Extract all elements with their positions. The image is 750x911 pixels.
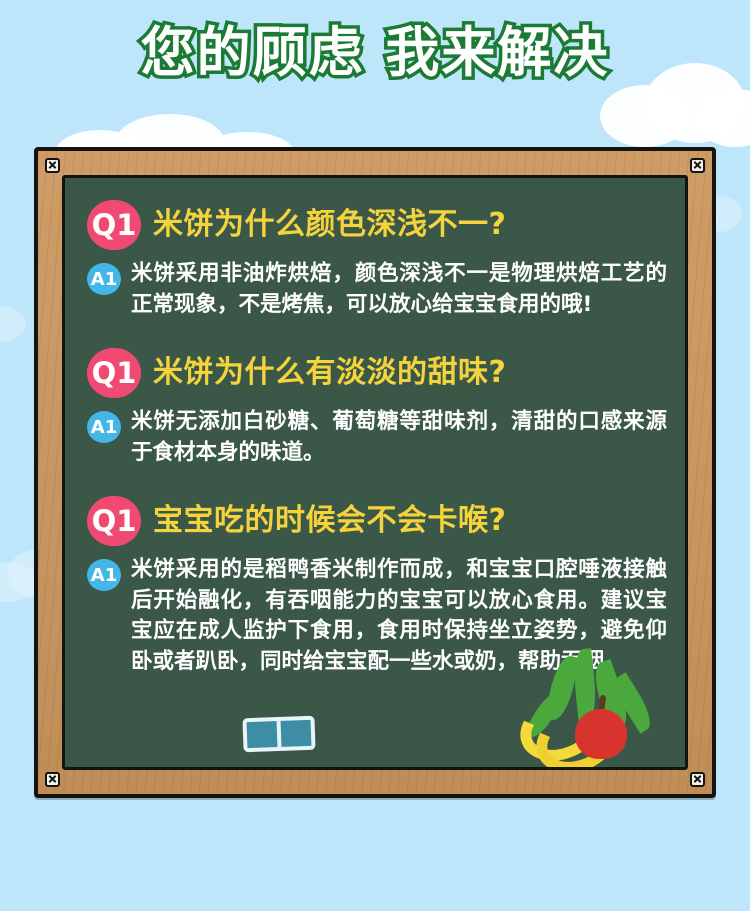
leaf-icon xyxy=(523,688,565,742)
leaf-icon xyxy=(609,672,658,733)
apple-icon xyxy=(575,709,627,759)
answer-badge: A1 xyxy=(87,411,121,443)
faq-item: Q1 米饼为什么有淡淡的甜味? A1 米饼无添加白砂糖、葡萄糖等甜味剂，清甜的口… xyxy=(87,348,667,468)
faq-list: Q1 米饼为什么颜色深浅不一? A1 米饼采用非油炸烘焙，颜色深浅不一是物理烘焙… xyxy=(87,200,667,677)
question-row: Q1 米饼为什么有淡淡的甜味? xyxy=(87,348,667,398)
question-badge: Q1 xyxy=(87,496,141,546)
blackboard-frame: Q1 米饼为什么颜色深浅不一? A1 米饼采用非油炸烘焙，颜色深浅不一是物理烘焙… xyxy=(34,147,716,798)
screw-icon xyxy=(690,772,705,787)
page-title: 您的顾虑 我来解决 xyxy=(141,22,610,84)
question-badge: Q1 xyxy=(87,200,141,250)
faq-item: Q1 宝宝吃的时候会不会卡喉? A1 米饼采用的是稻鸭香米制作而成，和宝宝口腔唾… xyxy=(87,496,667,677)
question-badge: Q1 xyxy=(87,348,141,398)
question-text: 宝宝吃的时候会不会卡喉? xyxy=(153,504,506,539)
banana-icon xyxy=(510,684,611,770)
question-row: Q1 宝宝吃的时候会不会卡喉? xyxy=(87,496,667,546)
answer-text: 米饼无添加白砂糖、葡萄糖等甜味剂，清甜的口感来源于食材本身的味道。 xyxy=(131,407,667,468)
answer-text: 米饼采用非油炸烘焙，颜色深浅不一是物理烘焙工艺的正常现象，不是烤焦，可以放心给宝… xyxy=(131,259,667,320)
banana-icon xyxy=(526,696,627,770)
question-row: Q1 米饼为什么颜色深浅不一? xyxy=(87,200,667,250)
screw-icon xyxy=(690,158,705,173)
promo-faq-page: 您的顾虑 我来解决 Q1 米饼为什么颜色深浅不一? A1 米饼采用非油炸烘焙，颜… xyxy=(0,0,750,911)
title-container: 您的顾虑 我来解决 xyxy=(0,22,750,84)
cloud-puff xyxy=(0,306,26,342)
blackboard-surface: Q1 米饼为什么颜色深浅不一? A1 米饼采用非油炸烘焙，颜色深浅不一是物理烘焙… xyxy=(62,175,688,770)
answer-text: 米饼采用的是稻鸭香米制作而成，和宝宝口腔唾液接触后开始融化，有吞咽能力的宝宝可以… xyxy=(131,555,667,677)
blackboard-eraser-icon xyxy=(242,716,315,752)
apple-stem-icon xyxy=(598,695,607,716)
answer-badge: A1 xyxy=(87,263,121,295)
question-text: 米饼为什么有淡淡的甜味? xyxy=(153,356,506,391)
question-text: 米饼为什么颜色深浅不一? xyxy=(153,208,506,243)
screw-icon xyxy=(45,158,60,173)
answer-row: A1 米饼采用非油炸烘焙，颜色深浅不一是物理烘焙工艺的正常现象，不是烤焦，可以放… xyxy=(87,259,667,320)
answer-row: A1 米饼采用的是稻鸭香米制作而成，和宝宝口腔唾液接触后开始融化，有吞咽能力的宝… xyxy=(87,555,667,677)
faq-item: Q1 米饼为什么颜色深浅不一? A1 米饼采用非油炸烘焙，颜色深浅不一是物理烘焙… xyxy=(87,200,667,320)
screw-icon xyxy=(45,772,60,787)
answer-row: A1 米饼无添加白砂糖、葡萄糖等甜味剂，清甜的口感来源于食材本身的味道。 xyxy=(87,407,667,468)
answer-badge: A1 xyxy=(87,559,121,591)
